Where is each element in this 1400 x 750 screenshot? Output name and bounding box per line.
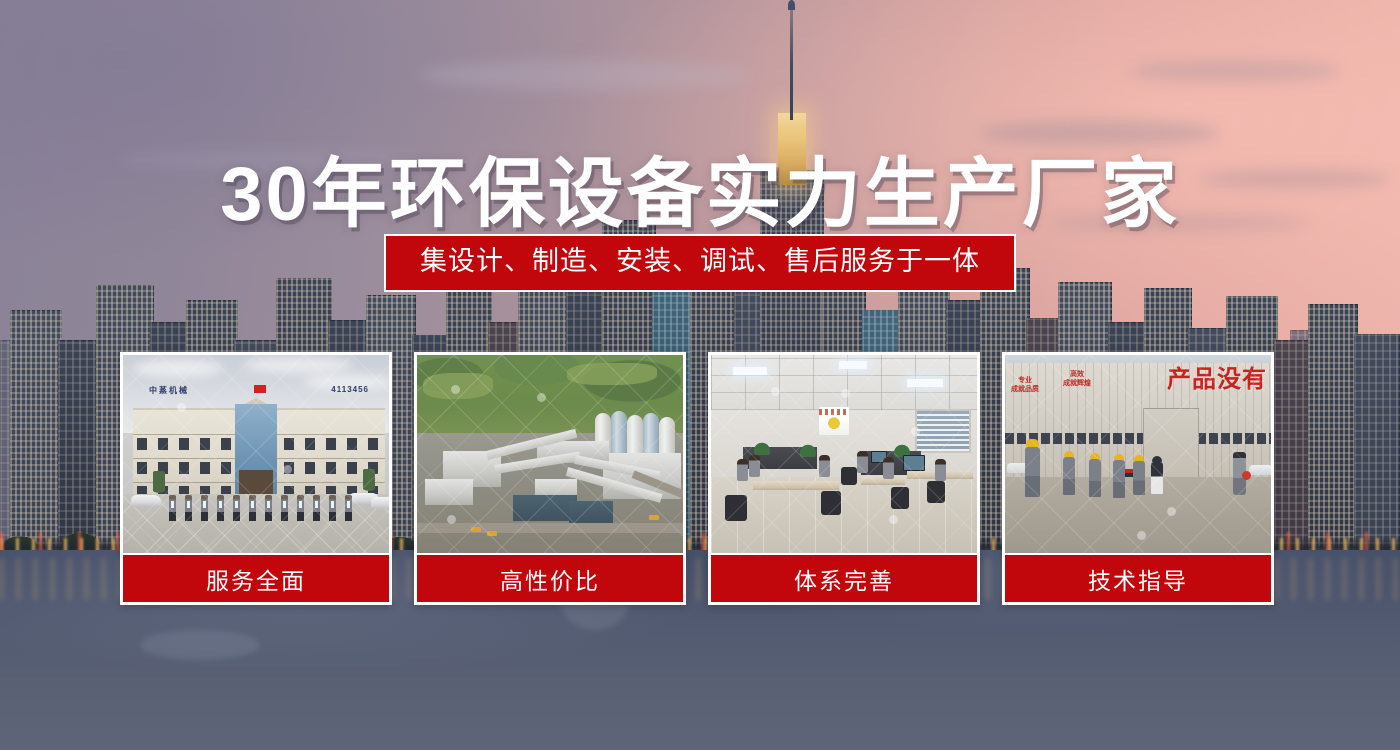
card-caption: 高性价比 xyxy=(417,553,683,602)
tower-spire xyxy=(790,0,793,120)
card-photo-office-interior xyxy=(711,355,977,559)
building-phone-label: 4113456 xyxy=(331,385,369,394)
feature-card[interactable]: 高性价比 xyxy=(414,352,686,605)
feature-card[interactable]: 产品没有 专业成就品质 高效成就辉煌 xyxy=(1002,352,1274,605)
flag-icon xyxy=(254,385,266,393)
subtitle-container: 集设计、制造、安装、调试、售后服务于一体 xyxy=(0,234,1400,292)
feature-card[interactable]: 中蒸机械 4113456 xyxy=(120,352,392,605)
feature-cards: 中蒸机械 4113456 xyxy=(120,352,1280,605)
card-caption: 技术指导 xyxy=(1005,553,1271,602)
card-photo-workshop-workers: 产品没有 专业成就品质 高效成就辉煌 xyxy=(1005,355,1271,559)
tower-spire-tip xyxy=(788,0,795,10)
card-caption: 体系完善 xyxy=(711,553,977,602)
card-photo-office-building: 中蒸机械 4113456 xyxy=(123,355,389,559)
helmet-ball-icon xyxy=(1242,471,1251,480)
subtitle-badge: 集设计、制造、安装、调试、售后服务于一体 xyxy=(384,234,1016,292)
feature-card[interactable]: 体系完善 xyxy=(708,352,980,605)
card-caption: 服务全面 xyxy=(123,553,389,602)
water-streak xyxy=(140,630,260,660)
card-photo-plant-aerial xyxy=(417,355,683,559)
page-title: 30年环保设备实力生产厂家 xyxy=(0,132,1400,242)
factory-wall-text: 产品没有 xyxy=(1167,359,1267,394)
building-sign-label: 中蒸机械 xyxy=(149,385,189,396)
promo-banner: 30年环保设备实力生产厂家 集设计、制造、安装、调试、售后服务于一体 xyxy=(0,0,1400,750)
